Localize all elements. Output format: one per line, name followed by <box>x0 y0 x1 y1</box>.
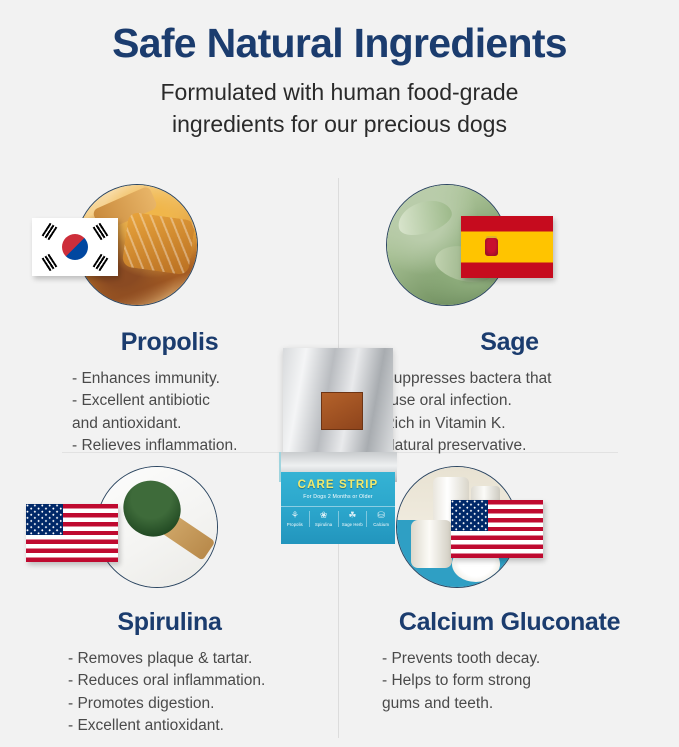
subtitle-line-1: Formulated with human food-grade <box>0 77 679 109</box>
ingredient-name: Calcium Gluconate <box>340 608 679 637</box>
calcium-icon: ⛁ <box>368 511 394 521</box>
sage-icon: ☘ <box>340 511 366 521</box>
package-label: CARE STRIP For Dogs 2 Months or Older ⚘ … <box>281 472 395 544</box>
usa-flag <box>26 504 118 562</box>
page-title: Safe Natural Ingredients <box>0 22 679 65</box>
package-icon-sage: ☘ Sage Herb <box>339 511 368 528</box>
sage-photo-wrap <box>340 180 679 320</box>
package-icon-propolis: ⚘ Propolis <box>281 511 310 528</box>
package-icon-label: Sage Herb <box>340 522 366 527</box>
package-icon-label: Spirulina <box>311 522 337 527</box>
ingredient-benefits: - Prevents tooth decay. - Helps to form … <box>340 648 679 715</box>
package-icon-calcium: ⛁ Calcium <box>367 511 395 528</box>
usa-flag <box>451 500 543 558</box>
product-package: CARE STRIP For Dogs 2 Months or Older ⚘ … <box>279 348 397 544</box>
brand-name: CARE STRIP <box>281 479 395 491</box>
page-subtitle: Formulated with human food-grade ingredi… <box>0 77 679 140</box>
header: Safe Natural Ingredients Formulated with… <box>0 0 679 141</box>
benefit-item: - Natural preservative. <box>374 435 679 457</box>
benefit-item: - Reduces oral inflammation. <box>68 670 339 692</box>
package-icon-label: Calcium <box>368 522 394 527</box>
benefit-item: - Helps to form strong gums and teeth. <box>382 670 679 715</box>
package-icon-spirulina: ❀ Spirulina <box>310 511 339 528</box>
benefit-item: - Excellent antioxidant. <box>68 715 339 737</box>
ingredient-benefits: - Removes plaque & tartar. - Reduces ora… <box>0 648 339 738</box>
ingredients-infographic: Safe Natural Ingredients Formulated with… <box>0 0 679 747</box>
propolis-photo-wrap <box>0 180 339 320</box>
spirulina-icon: ❀ <box>311 511 337 521</box>
benefit-item: - Suppresses bactera that cause oral inf… <box>374 368 679 413</box>
spain-flag <box>461 216 553 278</box>
ingredient-name: Spirulina <box>0 608 339 637</box>
benefit-item: - Prevents tooth decay. <box>382 648 679 670</box>
package-icon-label: Propolis <box>282 522 308 527</box>
benefit-item: - Removes plaque & tartar. <box>68 648 339 670</box>
south-korea-flag <box>32 218 118 276</box>
package-icon-row: ⚘ Propolis ❀ Spirulina ☘ Sage Herb ⛁ Cal… <box>281 506 395 528</box>
benefit-item: - Rich in Vitamin K. <box>374 413 679 435</box>
brand-tagline: For Dogs 2 Months or Older <box>281 494 395 500</box>
subtitle-line-2: ingredients for our precious dogs <box>0 109 679 141</box>
dental-strip <box>321 392 363 430</box>
benefit-item: - Promotes digestion. <box>68 693 339 715</box>
foil-pouch <box>283 348 393 466</box>
propolis-icon: ⚘ <box>282 511 308 521</box>
